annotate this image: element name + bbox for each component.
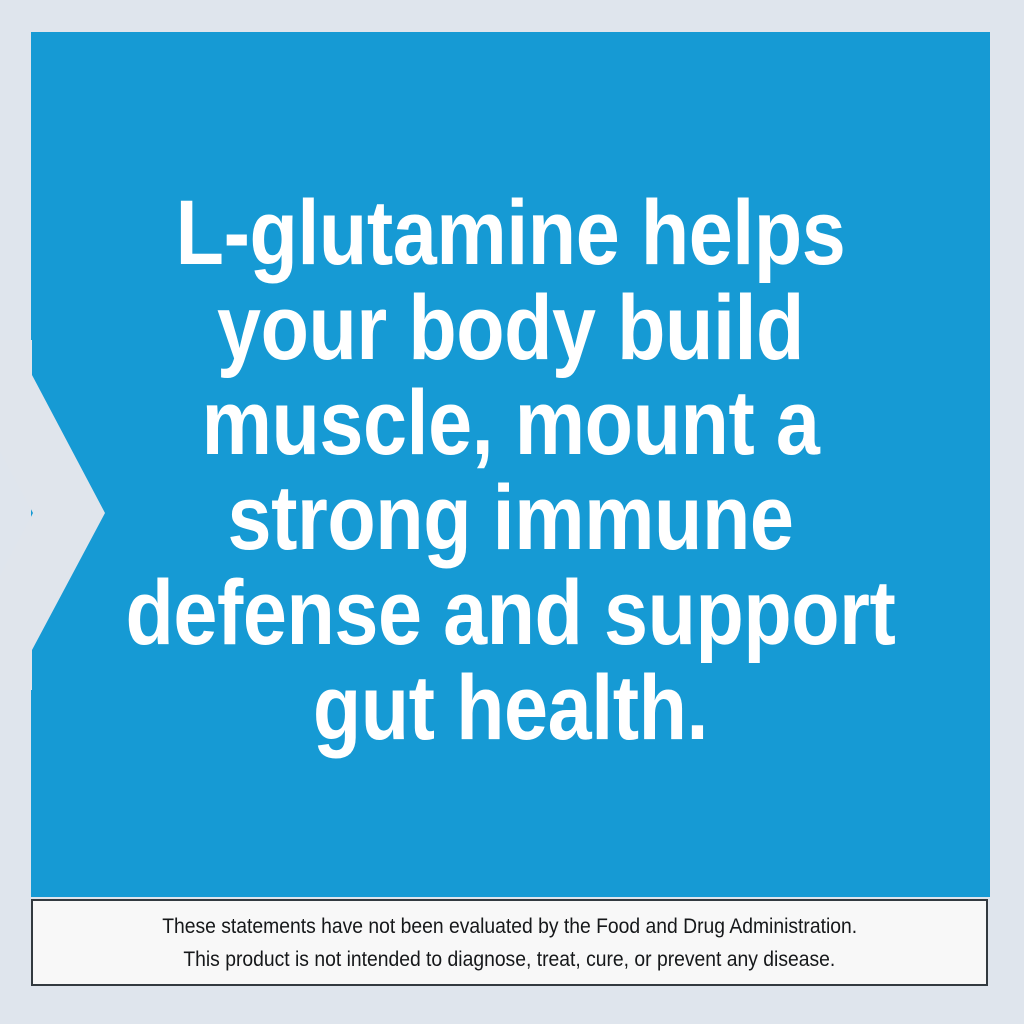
- disclaimer-line-1: These statements have not been evaluated…: [162, 910, 857, 943]
- promo-card: L-glutamine helps your body build muscle…: [0, 0, 1024, 1024]
- disclaimer-box: These statements have not been evaluated…: [31, 899, 988, 986]
- page-title: L-glutamine helps your body build muscle…: [98, 186, 923, 756]
- disclaimer-line-2: This product is not intended to diagnose…: [184, 943, 836, 976]
